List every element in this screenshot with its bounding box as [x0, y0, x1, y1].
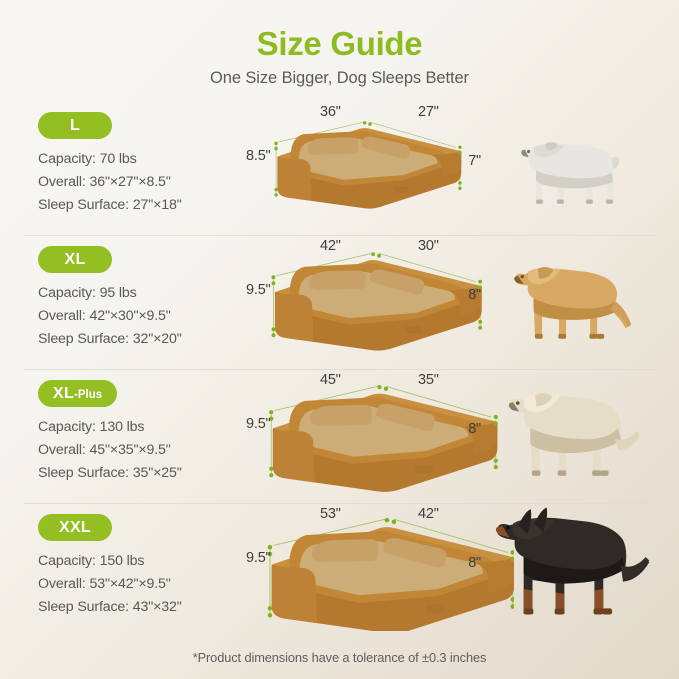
size-badge-suffix: -Plus [74, 382, 102, 409]
overall-text: Overall: 45"×35"×9.5" [38, 439, 246, 462]
size-badge: XL [38, 246, 112, 273]
spec-lines: Capacity: 130 lbs Overall: 45"×35"×9.5" … [38, 416, 246, 485]
header: Size Guide One Size Bigger, Dog Sleeps B… [0, 0, 679, 88]
bed-illustration-wrap: 36" 27" 8.5" 7" [246, 101, 483, 235]
dim-height-left-label: 9.5" [246, 282, 271, 298]
dim-depth-label: 27" [418, 104, 439, 120]
dim-width-label: 42" [320, 238, 341, 254]
size-badge: XL-Plus [38, 380, 117, 407]
capacity-text: Capacity: 150 lbs [38, 550, 246, 573]
dog-silhouette-yellow-labrador [491, 377, 651, 493]
dim-width-label: 53" [320, 506, 341, 522]
spec-column: XL-Plus Capacity: 130 lbs Overall: 45"×3… [38, 369, 246, 485]
dim-width-label: 45" [320, 372, 341, 388]
dim-height-right-label: 7" [468, 153, 481, 169]
size-badge-label: XXL [59, 514, 91, 541]
dog-silhouette-golden-retriever [495, 249, 651, 359]
bed-illustration-wrap: 42" 30" 9.5" 8" [246, 235, 483, 369]
spec-lines: Capacity: 150 lbs Overall: 53"×42"×9.5" … [38, 550, 246, 619]
size-row: L Capacity: 70 lbs Overall: 36"×27"×8.5"… [0, 101, 679, 235]
page-subtitle: One Size Bigger, Dog Sleeps Better [0, 69, 679, 88]
size-row: XL-Plus Capacity: 130 lbs Overall: 45"×3… [0, 369, 679, 503]
sleep-surface-text: Sleep Surface: 35"×25" [38, 462, 246, 485]
spec-lines: Capacity: 70 lbs Overall: 36"×27"×8.5" S… [38, 148, 246, 217]
dog-illustration-wrap [483, 235, 653, 369]
size-badge: XXL [38, 514, 112, 541]
dog-bed-illustration [246, 239, 504, 359]
bed-illustration-wrap: 53" 42" 9.5" 8" [246, 503, 483, 637]
dim-height-right-label: 8" [468, 555, 481, 571]
dim-height-right-label: 8" [468, 421, 481, 437]
sleep-surface-text: Sleep Surface: 43"×32" [38, 596, 246, 619]
capacity-text: Capacity: 130 lbs [38, 416, 246, 439]
size-row: XL Capacity: 95 lbs Overall: 42"×30"×9.5… [0, 235, 679, 369]
dim-height-left-label: 9.5" [246, 416, 271, 432]
dog-silhouette-doberman [483, 503, 651, 627]
spec-lines: Capacity: 95 lbs Overall: 42"×30"×9.5" S… [38, 282, 246, 351]
spec-column: XXL Capacity: 150 lbs Overall: 53"×42"×9… [38, 503, 246, 619]
size-badge-label: XL [53, 380, 74, 407]
overall-text: Overall: 42"×30"×9.5" [38, 305, 246, 328]
dog-illustration-wrap [483, 503, 653, 637]
size-rows: L Capacity: 70 lbs Overall: 36"×27"×8.5"… [0, 101, 679, 637]
overall-text: Overall: 36"×27"×8.5" [38, 171, 246, 194]
dim-width-label: 36" [320, 104, 341, 120]
capacity-text: Capacity: 70 lbs [38, 148, 246, 171]
size-badge: L [38, 112, 112, 139]
size-badge-label: L [70, 112, 80, 139]
capacity-text: Capacity: 95 lbs [38, 282, 246, 305]
overall-text: Overall: 53"×42"×9.5" [38, 573, 246, 596]
dog-silhouette-american-bulldog [501, 121, 651, 225]
dim-height-right-label: 8" [468, 287, 481, 303]
size-badge-label: XL [64, 246, 85, 273]
spec-column: L Capacity: 70 lbs Overall: 36"×27"×8.5"… [38, 101, 246, 217]
dim-height-left-label: 9.5" [246, 550, 271, 566]
size-row: XXL Capacity: 150 lbs Overall: 53"×42"×9… [0, 503, 679, 637]
sleep-surface-text: Sleep Surface: 32"×20" [38, 328, 246, 351]
dim-depth-label: 30" [418, 238, 439, 254]
sleep-surface-text: Sleep Surface: 27"×18" [38, 194, 246, 217]
spec-column: XL Capacity: 95 lbs Overall: 42"×30"×9.5… [38, 235, 246, 351]
dim-depth-label: 35" [418, 372, 439, 388]
dim-height-left-label: 8.5" [246, 148, 271, 164]
tolerance-footnote: *Product dimensions have a tolerance of … [0, 650, 679, 665]
dog-bed-illustration [246, 105, 494, 223]
dog-illustration-wrap [483, 101, 653, 235]
dog-illustration-wrap [483, 369, 653, 503]
dim-depth-label: 42" [418, 506, 439, 522]
bed-illustration-wrap: 45" 35" 9.5" 8" [246, 369, 483, 503]
page-title: Size Guide [0, 26, 679, 62]
